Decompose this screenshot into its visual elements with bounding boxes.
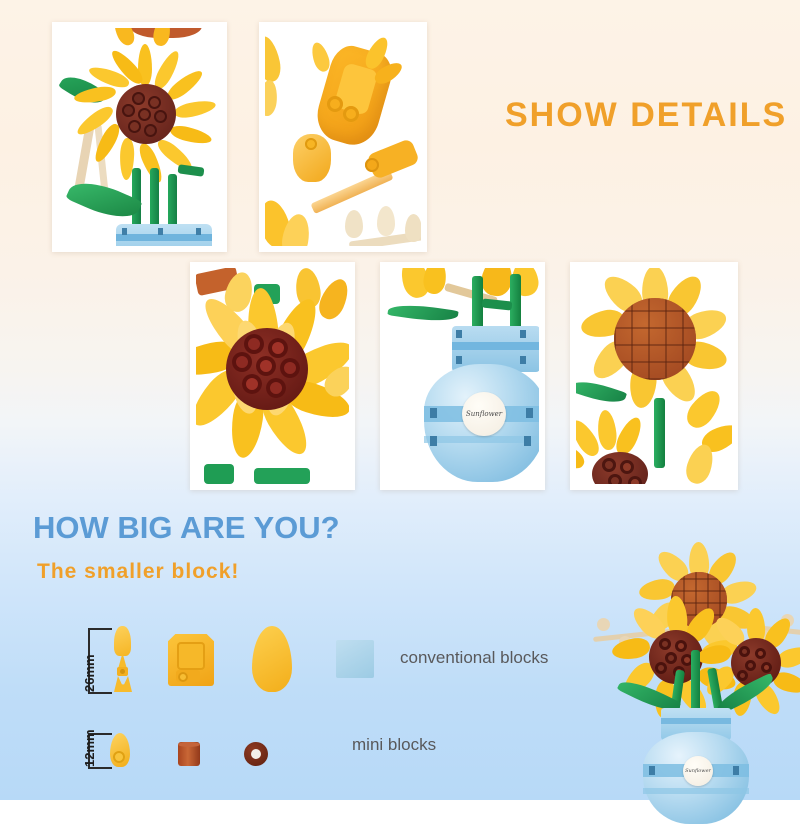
photo-sunflower-closeup-with-vase bbox=[52, 22, 227, 252]
vase-medallion: Sunflower bbox=[462, 392, 506, 436]
piece-brown-mini-cylinder bbox=[178, 742, 200, 766]
dimension-label-12mm: 12mm bbox=[82, 729, 97, 767]
piece-yellow-flat-tile bbox=[168, 634, 214, 686]
marketing-page: SHOW DETAILS bbox=[0, 0, 800, 800]
product-vase-medallion: Sunflower bbox=[683, 756, 713, 786]
show-details-heading: SHOW DETAILS bbox=[505, 96, 795, 135]
product-bouquet-image: Sunflower bbox=[595, 540, 800, 800]
mini-blocks-label: mini blocks bbox=[352, 735, 436, 755]
piece-yellow-petal-clip bbox=[108, 626, 136, 692]
conventional-blocks-label: conventional blocks bbox=[400, 648, 548, 668]
photo-sunflower-dark-red-center bbox=[190, 262, 355, 490]
photo-yellow-bud-detail bbox=[259, 22, 427, 252]
smaller-block-heading: The smaller block! bbox=[37, 560, 239, 584]
product-vase-medallion-label: Sunflower bbox=[685, 768, 711, 774]
photo-blue-vase-closeup: Sunflower bbox=[380, 262, 545, 490]
piece-yellow-mini-petal bbox=[108, 733, 132, 767]
piece-yellow-teardrop-petal bbox=[252, 626, 292, 692]
dimension-label-26mm: 26mm bbox=[82, 654, 97, 692]
piece-light-blue-square-tile bbox=[336, 640, 374, 678]
photo-sunflower-woven-brown-center bbox=[570, 262, 738, 490]
how-big-heading: HOW BIG ARE YOU? bbox=[33, 510, 340, 546]
vase-medallion-label: Sunflower bbox=[466, 410, 502, 418]
piece-brown-mini-ring bbox=[244, 742, 268, 766]
